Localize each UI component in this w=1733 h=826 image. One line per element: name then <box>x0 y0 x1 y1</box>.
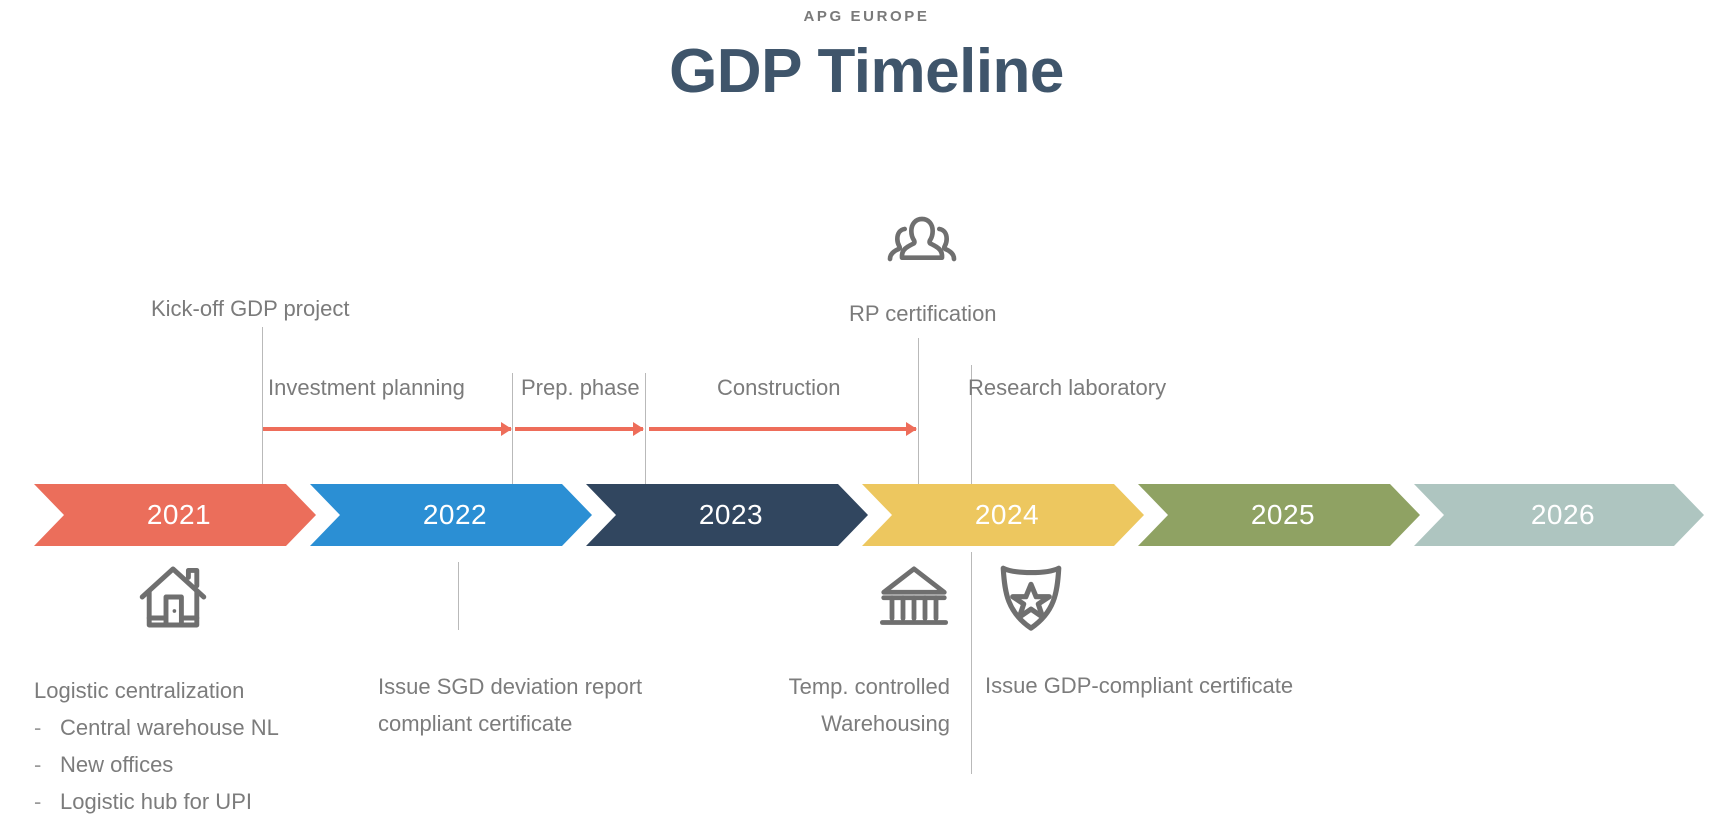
year-label-2024: 2024 <box>975 499 1039 531</box>
phase-arrow-construction <box>649 427 916 431</box>
list-item: -Central warehouse NL <box>34 709 279 746</box>
logistics-block: Logistic centralization -Central warehou… <box>34 672 279 820</box>
list-item-label: New offices <box>60 752 173 777</box>
year-label-2025: 2025 <box>1251 499 1315 531</box>
logistics-heading: Logistic centralization <box>34 672 279 709</box>
bullet-marker: - <box>34 746 60 783</box>
eyebrow-label: APG EUROPE <box>0 8 1733 25</box>
connector-line-kickoff <box>262 327 263 485</box>
phase-label-prep-phase: Prep. phase <box>521 369 640 407</box>
year-chevron-2021[interactable]: 2021 <box>34 484 316 546</box>
year-chevron-band: 2021 2022 2023 2024 2025 2026 <box>0 484 1733 546</box>
warehousing-line-1: Temp. controlled <box>640 668 950 705</box>
people-group-icon <box>880 215 964 275</box>
phase-label-construction: Construction <box>717 369 841 407</box>
year-label-2022: 2022 <box>423 499 487 531</box>
connector-line-rp <box>918 338 919 485</box>
year-label-2021: 2021 <box>147 499 211 531</box>
phase-divider-prep <box>512 373 513 485</box>
warehousing-block: Temp. controlled Warehousing <box>640 668 950 742</box>
page-title: GDP Timeline <box>0 34 1733 110</box>
shield-star-icon <box>995 558 1067 634</box>
sgd-report-line-2: compliant certificate <box>378 705 642 742</box>
phase-label-investment-planning: Investment planning <box>268 369 465 407</box>
gdp-certificate-label: Issue GDP-compliant certificate <box>985 667 1293 704</box>
bullet-marker: - <box>34 783 60 820</box>
year-chevron-2023[interactable]: 2023 <box>586 484 868 546</box>
research-laboratory-label: Research laboratory <box>968 369 1166 407</box>
list-item: -New offices <box>34 746 279 783</box>
sgd-report-line-1: Issue SGD deviation report <box>378 668 642 705</box>
list-item-label: Logistic hub for UPI <box>60 789 252 814</box>
house-icon <box>138 562 208 632</box>
year-chevron-2026[interactable]: 2026 <box>1414 484 1704 546</box>
year-chevron-2025[interactable]: 2025 <box>1138 484 1420 546</box>
bank-icon <box>878 562 950 628</box>
year-label-2023: 2023 <box>699 499 763 531</box>
phase-divider-construction <box>645 373 646 485</box>
bullet-marker: - <box>34 709 60 746</box>
phase-arrow-investment-planning <box>263 427 511 431</box>
year-label-2026: 2026 <box>1531 499 1595 531</box>
milestone-kickoff-label: Kick-off GDP project <box>151 290 349 328</box>
gdp-certificate-line-1: Issue GDP-compliant certificate <box>985 667 1293 704</box>
milestone-rp-certification-label: RP certification <box>849 295 997 333</box>
list-item: -Logistic hub for UPI <box>34 783 279 820</box>
connector-line-sgd <box>458 562 459 630</box>
connector-line-gdp-certificate <box>971 552 972 774</box>
sgd-report-block: Issue SGD deviation report compliant cer… <box>378 668 642 742</box>
year-chevron-2024[interactable]: 2024 <box>862 484 1144 546</box>
warehousing-line-2: Warehousing <box>640 705 950 742</box>
timeline-infographic: APG EUROPE GDP Timeline RP certification… <box>0 0 1733 826</box>
phase-arrow-prep-phase <box>515 427 643 431</box>
year-chevron-2022[interactable]: 2022 <box>310 484 592 546</box>
list-item-label: Central warehouse NL <box>60 715 279 740</box>
